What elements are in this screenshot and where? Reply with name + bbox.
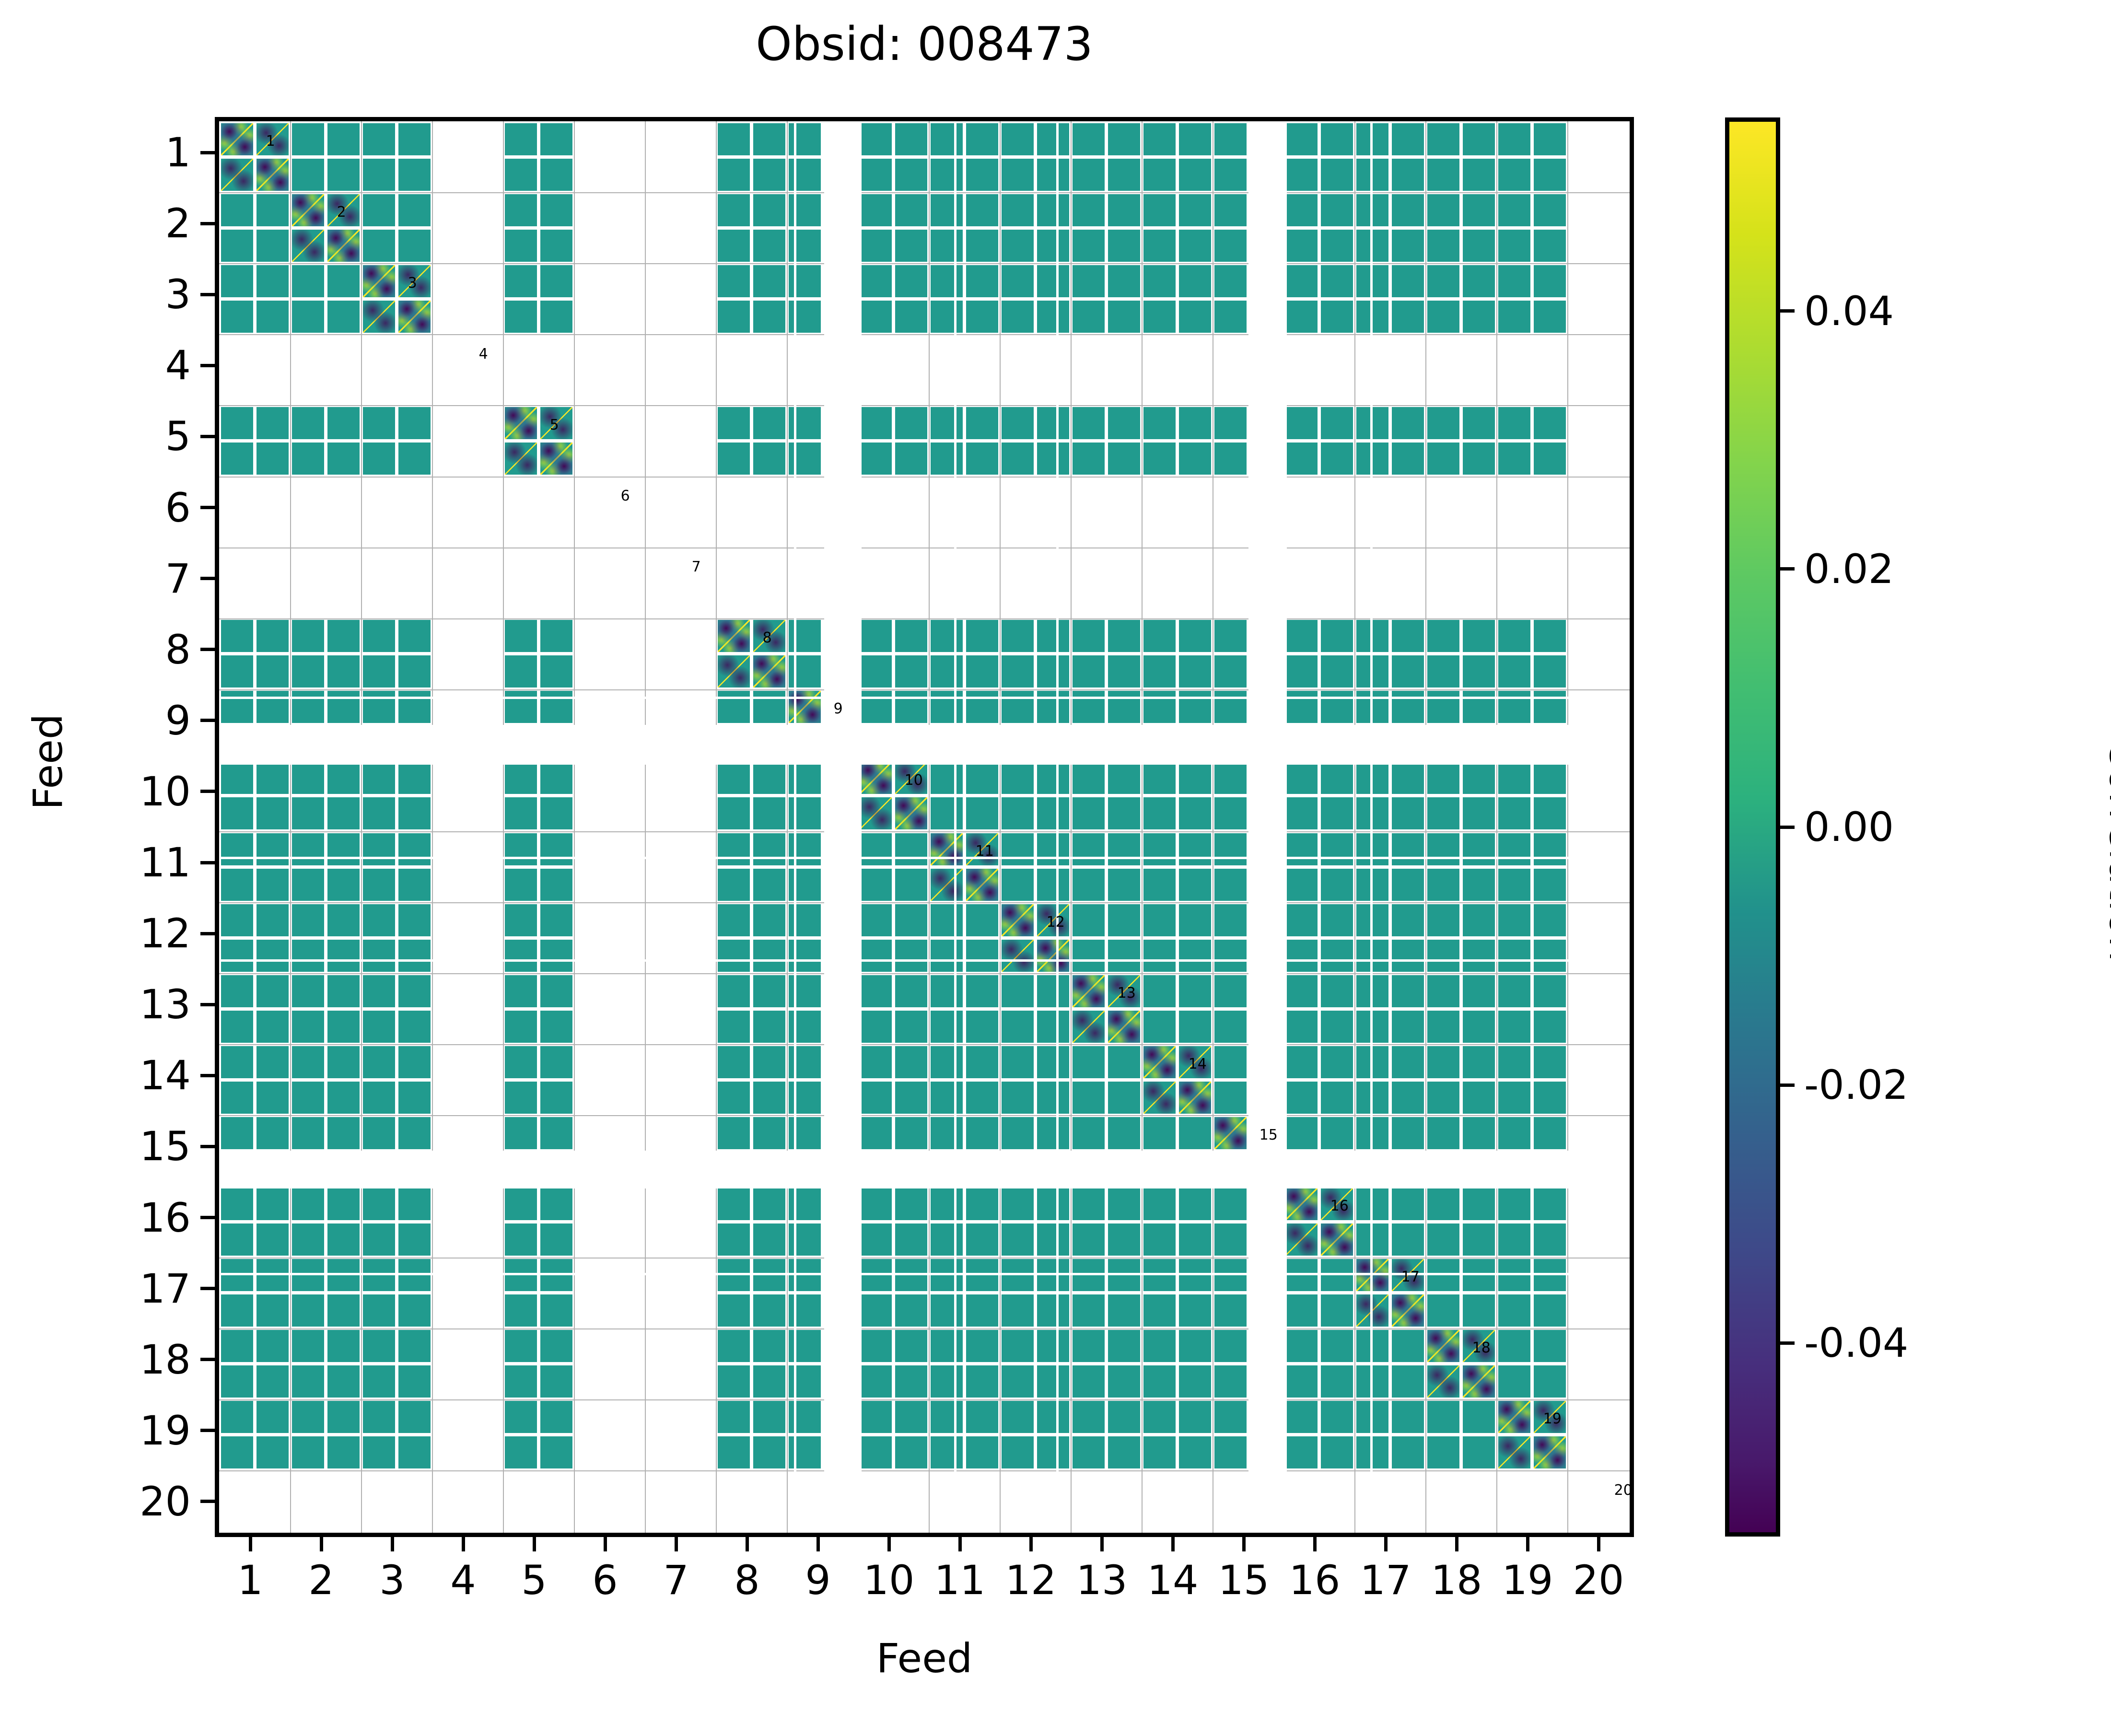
x-axis-tick <box>1455 1537 1458 1551</box>
heatmap-block <box>1427 691 1459 723</box>
heatmap-block <box>398 1188 431 1220</box>
heatmap-block <box>1108 833 1140 865</box>
heatmap-block <box>1214 869 1247 901</box>
y-axis-tick-label: 6 <box>95 488 191 528</box>
heatmap-block <box>327 1117 360 1149</box>
heatmap-block <box>1321 869 1353 901</box>
flagged-channel-stripe <box>1284 121 1287 1537</box>
heatmap-block <box>1037 691 1069 723</box>
heatmap-block <box>1073 1436 1105 1468</box>
heatmap-block <box>1321 833 1353 865</box>
heatmap-block <box>257 230 289 262</box>
grid-line-vertical <box>1000 121 1001 1533</box>
heatmap-block <box>1392 407 1424 439</box>
x-axis-tick-label: 3 <box>379 1560 405 1600</box>
heatmap-block <box>221 265 253 297</box>
heatmap-block <box>1108 1330 1140 1362</box>
heatmap-block <box>540 620 572 652</box>
y-axis-tick-label: 7 <box>95 559 191 599</box>
y-axis-tick <box>200 1500 215 1503</box>
heatmap-block <box>1179 1011 1211 1043</box>
x-axis-tick-label: 7 <box>663 1560 688 1600</box>
heatmap-block <box>895 1294 927 1327</box>
heatmap-block <box>1002 1436 1034 1468</box>
heatmap-block <box>931 655 963 687</box>
flagged-channel-stripe <box>219 959 1634 962</box>
heatmap-block <box>1285 1330 1318 1362</box>
heatmap-block <box>966 762 998 794</box>
grid-line-vertical <box>1354 121 1355 1533</box>
heatmap-block <box>1073 620 1105 652</box>
x-axis-tick <box>1597 1537 1600 1551</box>
heatmap-block <box>292 833 324 865</box>
heatmap-block <box>1498 1365 1530 1398</box>
heatmap-block <box>895 1401 927 1433</box>
heatmap-block <box>257 833 289 865</box>
autocorrelation-diagonal <box>1073 975 1105 1007</box>
heatmap-block <box>789 1188 821 1220</box>
heatmap-block <box>1498 1117 1530 1149</box>
heatmap-block <box>1321 940 1353 972</box>
heatmap-block <box>1214 1294 1247 1327</box>
heatmap-block <box>327 301 360 333</box>
heatmap-block <box>1321 1330 1353 1362</box>
heatmap-block <box>931 123 963 155</box>
heatmap-block <box>505 904 537 936</box>
heatmap-block <box>292 1011 324 1043</box>
colorbar-tick-label: -0.02 <box>1804 1065 1908 1105</box>
heatmap-block <box>1143 407 1176 439</box>
heatmap-block <box>363 301 395 333</box>
heatmap-block <box>1285 443 1318 475</box>
heatmap-block <box>1534 655 1566 687</box>
heatmap-block <box>1214 301 1247 333</box>
heatmap-block <box>540 1436 572 1468</box>
y-axis-tick <box>200 932 215 935</box>
heatmap-block <box>1285 833 1318 865</box>
heatmap-block <box>1143 655 1176 687</box>
heatmap-block <box>1463 1294 1495 1327</box>
heatmap-block <box>1073 1294 1105 1327</box>
heatmap-block <box>1143 762 1176 794</box>
heatmap-block <box>292 123 324 155</box>
heatmap-block <box>966 159 998 191</box>
heatmap-block <box>1214 265 1247 297</box>
heatmap-block <box>753 1046 785 1078</box>
heatmap-block <box>1463 1188 1495 1220</box>
cross-sideband-diagonal <box>860 797 892 829</box>
heatmap-block <box>860 940 892 972</box>
heatmap-block <box>1534 1011 1566 1043</box>
heatmap-block <box>540 265 572 297</box>
heatmap-block <box>1214 1401 1247 1433</box>
y-axis-label: Feed <box>24 570 71 954</box>
heatmap-block <box>895 620 927 652</box>
heatmap-block <box>327 265 360 297</box>
heatmap-block <box>1392 123 1424 155</box>
heatmap-block <box>1179 194 1211 226</box>
heatmap-block <box>398 762 431 794</box>
heatmap-block <box>966 301 998 333</box>
heatmap-block <box>1321 1365 1353 1398</box>
colorbar-label: Correlation <box>2100 635 2111 1066</box>
heatmap-block <box>966 1188 998 1220</box>
heatmap-block <box>1427 940 1459 972</box>
heatmap-block <box>789 1117 821 1149</box>
x-axis-tick-label: 12 <box>1005 1560 1057 1600</box>
heatmap-block <box>540 904 572 936</box>
heatmap-block <box>1108 1046 1140 1078</box>
y-axis-tick <box>200 222 215 225</box>
heatmap-block <box>1108 655 1140 687</box>
heatmap-block <box>966 1294 998 1327</box>
heatmap-block <box>1002 1401 1034 1433</box>
heatmap-block <box>1002 443 1034 475</box>
heatmap-block <box>789 1046 821 1078</box>
y-axis-tick-label: 19 <box>95 1410 191 1451</box>
heatmap-block <box>221 833 253 865</box>
flagged-channel-stripe <box>857 121 861 1537</box>
heatmap-block <box>718 940 750 972</box>
heatmap-block <box>327 407 360 439</box>
heatmap-block <box>1037 975 1069 1007</box>
heatmap-block <box>1037 1011 1069 1043</box>
heatmap-block <box>1498 1294 1530 1327</box>
heatmap-block <box>1392 1046 1424 1078</box>
heatmap-block <box>1498 904 1530 936</box>
autocorrelation-diagonal <box>753 655 785 687</box>
heatmap-block <box>860 123 892 155</box>
heatmap-block <box>1214 230 1247 262</box>
heatmap-block <box>1108 1188 1140 1220</box>
heatmap-block <box>1073 230 1105 262</box>
cross-sideband-diagonal <box>1143 1082 1176 1114</box>
heatmap-block <box>966 1117 998 1149</box>
x-axis-label: Feed <box>215 1635 1634 1682</box>
heatmap-block <box>292 1330 324 1362</box>
heatmap-block <box>363 620 395 652</box>
x-axis-tick-label: 10 <box>863 1560 915 1600</box>
x-axis-tick <box>746 1537 749 1551</box>
heatmap-block <box>931 1082 963 1114</box>
heatmap-block <box>1037 123 1069 155</box>
feed-index-annotation: 7 <box>692 560 701 574</box>
heatmap-block <box>1534 797 1566 829</box>
heatmap-block <box>327 443 360 475</box>
feed-index-annotation: 14 <box>1189 1057 1207 1072</box>
heatmap-block <box>1037 230 1069 262</box>
heatmap-block <box>931 620 963 652</box>
autocorrelation-diagonal <box>540 443 572 475</box>
y-axis-tick <box>200 1429 215 1432</box>
heatmap-block <box>327 1011 360 1043</box>
heatmap-block <box>789 797 821 829</box>
heatmap-block <box>789 833 821 865</box>
x-axis-tick-label: 17 <box>1360 1560 1411 1600</box>
heatmap-block <box>1392 443 1424 475</box>
heatmap-block <box>718 159 750 191</box>
heatmap-block <box>221 975 253 1007</box>
heatmap-block <box>1037 443 1069 475</box>
heatmap-block <box>1037 1188 1069 1220</box>
heatmap-block <box>1427 265 1459 297</box>
heatmap-block <box>1498 194 1530 226</box>
autocorrelation-diagonal <box>327 230 360 262</box>
heatmap-block <box>1321 904 1353 936</box>
heatmap-block <box>860 833 892 865</box>
heatmap-block <box>1321 691 1353 723</box>
heatmap-block <box>292 1294 324 1327</box>
heatmap-block <box>540 230 572 262</box>
heatmap-block <box>327 230 360 262</box>
heatmap-block <box>1285 1082 1318 1114</box>
heatmap-block <box>1427 620 1459 652</box>
feed-index-annotation: 13 <box>1118 986 1136 1001</box>
heatmap-block <box>753 1365 785 1398</box>
heatmap-block <box>1427 1436 1459 1468</box>
heatmap-block <box>966 1011 998 1043</box>
heatmap-block <box>1463 159 1495 191</box>
heatmap-block <box>221 1223 253 1256</box>
heatmap-block <box>1427 1401 1459 1433</box>
x-axis-tick <box>816 1537 820 1551</box>
heatmap-block <box>327 1188 360 1220</box>
heatmap-block <box>1427 159 1459 191</box>
heatmap-block <box>718 797 750 829</box>
heatmap-block <box>292 620 324 652</box>
heatmap-block <box>221 407 253 439</box>
y-axis-tick-label: 9 <box>95 700 191 741</box>
heatmap-block <box>540 762 572 794</box>
heatmap-block <box>363 1117 395 1149</box>
x-axis-tick-label: 13 <box>1076 1560 1128 1600</box>
heatmap-block <box>221 797 253 829</box>
grid-line-horizontal <box>219 334 1630 335</box>
heatmap-block <box>718 1401 750 1433</box>
heatmap-block <box>860 265 892 297</box>
heatmap-block <box>1285 762 1318 794</box>
heatmap-block <box>292 975 324 1007</box>
heatmap-block <box>1321 655 1353 687</box>
heatmap-block <box>1143 230 1176 262</box>
heatmap-block <box>1427 230 1459 262</box>
heatmap-block <box>718 230 750 262</box>
heatmap-block <box>398 230 431 262</box>
heatmap-block <box>257 655 289 687</box>
heatmap-block <box>1534 1046 1566 1078</box>
heatmap-block <box>257 620 289 652</box>
cross-sideband-diagonal <box>1498 1436 1530 1468</box>
heatmap-block <box>860 620 892 652</box>
y-axis-tick-label: 16 <box>95 1198 191 1238</box>
heatmap-block <box>860 1188 892 1220</box>
flagged-channel-stripe <box>1370 121 1373 1537</box>
y-axis-tick-label: 17 <box>95 1269 191 1309</box>
grid-line-vertical <box>361 121 362 1533</box>
heatmap-block <box>1321 762 1353 794</box>
heatmap-block <box>1143 123 1176 155</box>
heatmap-block <box>753 762 785 794</box>
heatmap-block <box>895 230 927 262</box>
heatmap-block <box>753 691 785 723</box>
heatmap-block <box>1285 1223 1318 1256</box>
heatmap-block <box>895 1330 927 1362</box>
heatmap-block <box>1285 230 1318 262</box>
heatmap-block <box>540 1294 572 1327</box>
heatmap-block <box>789 975 821 1007</box>
heatmap-block <box>753 869 785 901</box>
heatmap-block <box>1498 975 1530 1007</box>
heatmap-block <box>1321 443 1353 475</box>
heatmap-block <box>292 691 324 723</box>
heatmap-block <box>1463 940 1495 972</box>
heatmap-block <box>540 123 572 155</box>
grid-line-horizontal <box>219 405 1630 406</box>
heatmap-block <box>895 655 927 687</box>
heatmap-block <box>966 620 998 652</box>
heatmap-block <box>1285 1117 1318 1149</box>
heatmap-block <box>789 1011 821 1043</box>
heatmap-block <box>718 1330 750 1362</box>
autocorrelation-diagonal <box>1392 1294 1424 1327</box>
autocorrelation-diagonal <box>398 301 431 333</box>
grid-line-horizontal <box>219 1044 1630 1045</box>
heatmap-block <box>1108 194 1140 226</box>
heatmap-block <box>398 443 431 475</box>
heatmap-block <box>327 1436 360 1468</box>
heatmap-block <box>1143 1294 1176 1327</box>
heatmap-block <box>895 123 927 155</box>
heatmap-block <box>789 1294 821 1327</box>
heatmap-block <box>540 1401 572 1433</box>
heatmap-block <box>860 194 892 226</box>
heatmap-block <box>1179 691 1211 723</box>
heatmap-block <box>1463 1082 1495 1114</box>
heatmap-block <box>1108 1223 1140 1256</box>
heatmap-block <box>363 691 395 723</box>
heatmap-block <box>1073 1188 1105 1220</box>
heatmap-block <box>327 904 360 936</box>
heatmap-block <box>1463 443 1495 475</box>
heatmap-block <box>1214 762 1247 794</box>
heatmap-block <box>221 230 253 262</box>
heatmap-block <box>1392 1330 1424 1362</box>
heatmap-block <box>1534 194 1566 226</box>
feed-index-annotation: 5 <box>550 418 559 432</box>
heatmap-block <box>1073 940 1105 972</box>
colorbar[interactable] <box>1725 117 1780 1537</box>
heatmap-block <box>1285 975 1318 1007</box>
correlation-matrix-axes[interactable]: 1234567891011121314151617181920 <box>215 117 1634 1537</box>
y-axis-tick-label: 4 <box>95 345 191 385</box>
heatmap-block <box>398 1117 431 1149</box>
heatmap-block <box>931 443 963 475</box>
heatmap-block <box>860 655 892 687</box>
heatmap-block <box>1392 301 1424 333</box>
heatmap-block <box>860 1401 892 1433</box>
heatmap-block <box>1321 265 1353 297</box>
heatmap-block <box>1143 1330 1176 1362</box>
heatmap-block <box>363 904 395 936</box>
heatmap-block <box>540 1082 572 1114</box>
heatmap-block <box>257 1365 289 1398</box>
heatmap-block <box>505 1011 537 1043</box>
heatmap-block <box>1392 265 1424 297</box>
heatmap-block <box>292 1223 324 1256</box>
heatmap-block <box>1498 443 1530 475</box>
heatmap-block <box>398 159 431 191</box>
heatmap-block <box>1214 975 1247 1007</box>
heatmap-block <box>860 1223 892 1256</box>
heatmap-block <box>1143 1223 1176 1256</box>
heatmap-block <box>718 1436 750 1468</box>
feed-index-annotation: 10 <box>905 773 923 788</box>
feed-index-annotation: 1 <box>266 134 275 149</box>
cross-sideband-diagonal <box>1002 940 1034 972</box>
heatmap-block <box>221 655 253 687</box>
heatmap-block <box>505 159 537 191</box>
heatmap-block <box>1463 1401 1495 1433</box>
heatmap-block <box>966 1046 998 1078</box>
x-axis-tick <box>533 1537 536 1551</box>
heatmap-block <box>398 194 431 226</box>
heatmap-block <box>966 1223 998 1256</box>
heatmap-block <box>895 975 927 1007</box>
heatmap-block <box>753 443 785 475</box>
heatmap-block <box>1427 869 1459 901</box>
x-axis-tick-label: 1 <box>237 1560 263 1600</box>
heatmap-block <box>221 1436 253 1468</box>
heatmap-block <box>540 1365 572 1398</box>
y-axis-tick <box>200 790 215 793</box>
heatmap-block <box>718 443 750 475</box>
heatmap-block <box>1037 1330 1069 1362</box>
heatmap-block <box>1073 869 1105 901</box>
heatmap-block <box>966 1330 998 1362</box>
heatmap-block <box>1037 797 1069 829</box>
heatmap-block <box>540 655 572 687</box>
y-axis-tick <box>200 364 215 367</box>
heatmap-block <box>789 194 821 226</box>
heatmap-block <box>540 1046 572 1078</box>
heatmap-block <box>753 1294 785 1327</box>
heatmap-block <box>398 797 431 829</box>
heatmap-block <box>327 975 360 1007</box>
heatmap-block <box>1321 1401 1353 1433</box>
heatmap-block <box>505 797 537 829</box>
cross-sideband-diagonal <box>1427 1365 1459 1398</box>
heatmap-block <box>1214 1223 1247 1256</box>
grid-line-horizontal <box>219 548 1630 548</box>
heatmap-block <box>966 194 998 226</box>
heatmap-block <box>505 123 537 155</box>
heatmap-block <box>1143 1365 1176 1398</box>
heatmap-block <box>1427 1294 1459 1327</box>
heatmap-block <box>1179 159 1211 191</box>
heatmap-block <box>1498 620 1530 652</box>
heatmap-block <box>1285 691 1318 723</box>
x-axis-tick <box>320 1537 323 1551</box>
heatmap-block <box>292 797 324 829</box>
heatmap-block <box>931 1011 963 1043</box>
heatmap-block <box>718 655 750 687</box>
x-axis-tick <box>462 1537 465 1551</box>
heatmap-block <box>221 1401 253 1433</box>
heatmap-block <box>257 1188 289 1220</box>
heatmap-block <box>1534 230 1566 262</box>
heatmap-block <box>1179 1330 1211 1362</box>
heatmap-block <box>1285 1401 1318 1433</box>
